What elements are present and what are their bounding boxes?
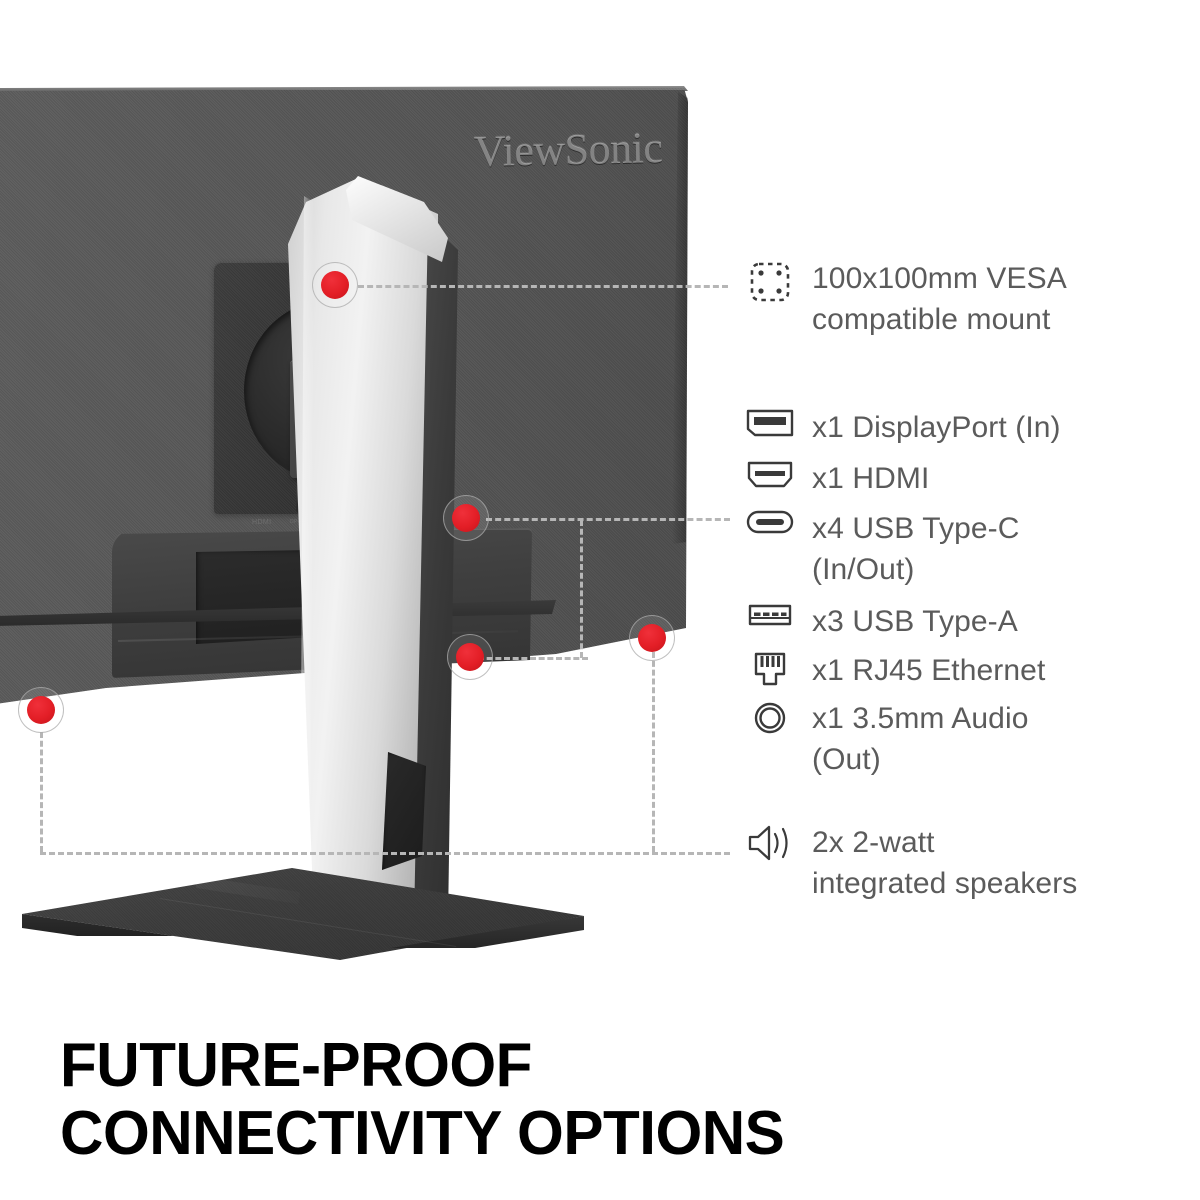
monitor-product-photo: ViewSonic HDMI DP	[0, 0, 760, 1010]
spec-item-rj45: x1 RJ45 Ethernet	[744, 650, 1200, 691]
callout-line-ports	[486, 518, 730, 521]
spec-line: (Out)	[812, 739, 1029, 780]
viewsonic-logo: ViewSonic	[473, 122, 674, 180]
callout-dot-speaker[interactable]	[18, 687, 64, 733]
callout-dot-ports-lower[interactable]	[447, 634, 493, 680]
callout-line-vesa	[358, 285, 728, 288]
spec-text-audio: x1 3.5mm Audio (Out)	[812, 698, 1029, 780]
stand-base	[22, 868, 584, 960]
spec-line: x3 USB Type-A	[812, 601, 1018, 642]
callout-line-ports-vertical	[580, 520, 583, 658]
spec-item-vesa: 100x100mm VESA compatible mount	[744, 258, 1200, 340]
spec-line: 2x 2-watt	[812, 822, 1077, 863]
product-feature-image: ViewSonic HDMI DP	[0, 0, 1200, 1200]
vesa-mount-icon	[744, 258, 796, 306]
headline: FUTURE-PROOF CONNECTIVITY OPTIONS	[60, 1032, 1160, 1168]
spec-item-audio: x1 3.5mm Audio (Out)	[744, 698, 1200, 780]
spec-line: x1 RJ45 Ethernet	[812, 650, 1045, 691]
spec-line: integrated speakers	[812, 863, 1077, 904]
spec-text-rj45: x1 RJ45 Ethernet	[812, 650, 1045, 691]
speaker-icon	[744, 822, 796, 864]
spec-text-displayport: x1 DisplayPort (In)	[812, 407, 1061, 448]
hdmi-icon	[744, 458, 796, 490]
spec-line: compatible mount	[812, 299, 1067, 340]
spec-item-usb-c: x4 USB Type-C (In/Out)	[744, 508, 1200, 590]
spec-text-usb-c: x4 USB Type-C (In/Out)	[812, 508, 1020, 590]
spec-line: x1 HDMI	[812, 458, 929, 499]
spec-item-usb-a: x3 USB Type-A	[744, 601, 1200, 642]
hdmi-port-label: HDMI	[252, 519, 272, 526]
spec-line: x1 DisplayPort (In)	[812, 407, 1061, 448]
spec-line: x1 3.5mm Audio	[812, 698, 1029, 739]
spec-list: 100x100mm VESA compatible mount x1 Displ…	[744, 0, 1200, 1010]
spec-line: x4 USB Type-C	[812, 508, 1020, 549]
spec-line: 100x100mm VESA	[812, 258, 1067, 299]
callout-dot-vesa[interactable]	[312, 262, 358, 308]
callout-line-right-dot-vertical	[652, 652, 655, 852]
displayport-icon	[744, 407, 796, 439]
spec-text-hdmi: x1 HDMI	[812, 458, 929, 499]
headline-line-2: CONNECTIVITY OPTIONS	[60, 1100, 1127, 1168]
callout-dot-usb-right[interactable]	[629, 615, 675, 661]
audio-jack-icon	[744, 698, 796, 738]
spec-text-vesa: 100x100mm VESA compatible mount	[812, 258, 1067, 340]
headline-line-1: FUTURE-PROOF	[60, 1032, 1127, 1100]
spec-line: (In/Out)	[812, 549, 1020, 590]
callout-line-speaker-vertical	[40, 732, 43, 852]
dp-port-label: DP	[290, 519, 298, 525]
spec-item-hdmi: x1 HDMI	[744, 458, 1200, 499]
spec-item-displayport: x1 DisplayPort (In)	[744, 407, 1200, 448]
callout-dot-core	[321, 271, 349, 299]
callout-dot-core	[456, 643, 484, 671]
spec-item-speakers: 2x 2-watt integrated speakers	[744, 822, 1200, 904]
spec-text-usb-a: x3 USB Type-A	[812, 601, 1018, 642]
callout-line-bottom-dots	[478, 657, 588, 660]
callout-dot-ports[interactable]	[443, 495, 489, 541]
spec-text-speakers: 2x 2-watt integrated speakers	[812, 822, 1077, 904]
callout-dot-core	[27, 696, 55, 724]
callout-dot-core	[452, 504, 480, 532]
usb-type-c-icon	[744, 508, 796, 536]
usb-type-a-icon	[744, 601, 796, 629]
callout-line-speaker-horizontal	[40, 852, 730, 855]
callout-dot-core	[638, 624, 666, 652]
rj45-ethernet-icon	[744, 650, 796, 690]
